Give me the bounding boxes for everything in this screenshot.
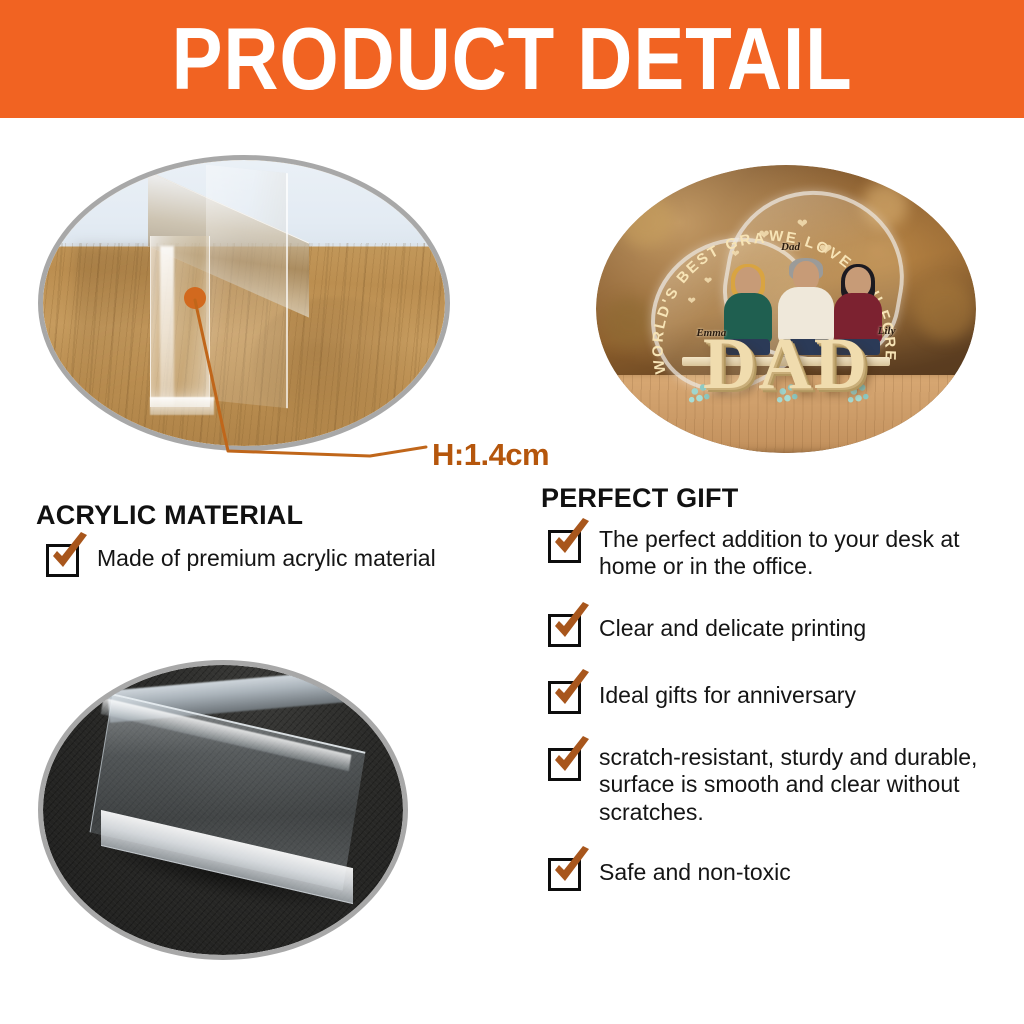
dimension-label: H:1.4cm: [432, 437, 549, 473]
page-title: PRODUCT DETAIL: [172, 16, 853, 105]
bokeh-light: [915, 280, 975, 340]
heart-icon: ❤: [704, 276, 712, 287]
section-heading-perfect-gift: PERFECT GIFT: [541, 483, 738, 514]
heart-acrylic-plaque: WORLD'S BEST GRANDPA WE LOVE YOU FOREVER…: [649, 191, 923, 416]
heart-icon: ❤: [797, 216, 808, 232]
photo-clip: [43, 665, 403, 955]
acrylic-edge-highlight: [160, 246, 174, 406]
product-detail-page: PRODUCT DETAIL H:1.4cm: [0, 0, 1024, 1024]
list-item: The perfect addition to your desk at hom…: [548, 526, 998, 580]
feature-list-acrylic-material: Made of premium acrylic material: [46, 540, 516, 595]
figure-name-label: Dad: [781, 241, 800, 253]
figure-name-label: Lily: [878, 325, 896, 337]
heart-acrylic-keepsake-photo: WORLD'S BEST GRANDPA WE LOVE YOU FOREVER…: [596, 165, 976, 453]
check-icon: [548, 736, 594, 782]
header-banner: PRODUCT DETAIL: [0, 0, 1024, 118]
feature-text: The perfect addition to your desk at hom…: [599, 526, 998, 580]
check-icon: [548, 846, 594, 892]
acrylic-edge-on-wood-photo: [38, 155, 450, 451]
heart-icon: ❤: [731, 249, 739, 260]
list-item: Clear and delicate printing: [548, 610, 998, 647]
feature-text: Ideal gifts for anniversary: [599, 682, 856, 709]
feature-list-perfect-gift: The perfect addition to your desk at hom…: [548, 526, 998, 909]
checkbox-checked[interactable]: [548, 858, 581, 891]
check-icon: [46, 532, 92, 578]
heart-icon: ❤: [819, 240, 832, 260]
checkbox-checked[interactable]: [548, 681, 581, 714]
acrylic-back-face: [206, 164, 288, 407]
dad-word-art: DAD: [703, 322, 869, 407]
checkbox-checked[interactable]: [548, 748, 581, 781]
list-item: Made of premium acrylic material: [46, 540, 516, 577]
section-heading-acrylic-material: ACRYLIC MATERIAL: [36, 500, 303, 531]
checkbox-checked[interactable]: [548, 530, 581, 563]
feature-text: Safe and non-toxic: [599, 859, 791, 886]
list-item: Ideal gifts for anniversary: [548, 677, 998, 714]
acrylic-front-face: [150, 236, 210, 408]
heart-icon: ❤: [759, 227, 770, 243]
checkbox-checked[interactable]: [46, 544, 79, 577]
photo-clip: WORLD'S BEST GRANDPA WE LOVE YOU FOREVER…: [596, 165, 976, 453]
feature-text: scratch-resistant, sturdy and durable, s…: [599, 744, 998, 825]
check-icon: [548, 602, 594, 648]
feature-text: Made of premium acrylic material: [97, 545, 436, 572]
bokeh-light: [604, 297, 654, 347]
feature-text: Clear and delicate printing: [599, 615, 866, 642]
list-item: scratch-resistant, sturdy and durable, s…: [548, 744, 998, 825]
check-icon: [548, 669, 594, 715]
acrylic-block-on-slate-photo: [38, 660, 408, 960]
dimension-marker-dot: [184, 287, 206, 309]
acrylic-base-highlight: [150, 397, 214, 414]
list-item: Safe and non-toxic: [548, 854, 998, 891]
heart-icon: ❤: [687, 296, 695, 307]
photo-clip: [43, 160, 445, 446]
checkbox-checked[interactable]: [548, 614, 581, 647]
check-icon: [548, 518, 594, 564]
